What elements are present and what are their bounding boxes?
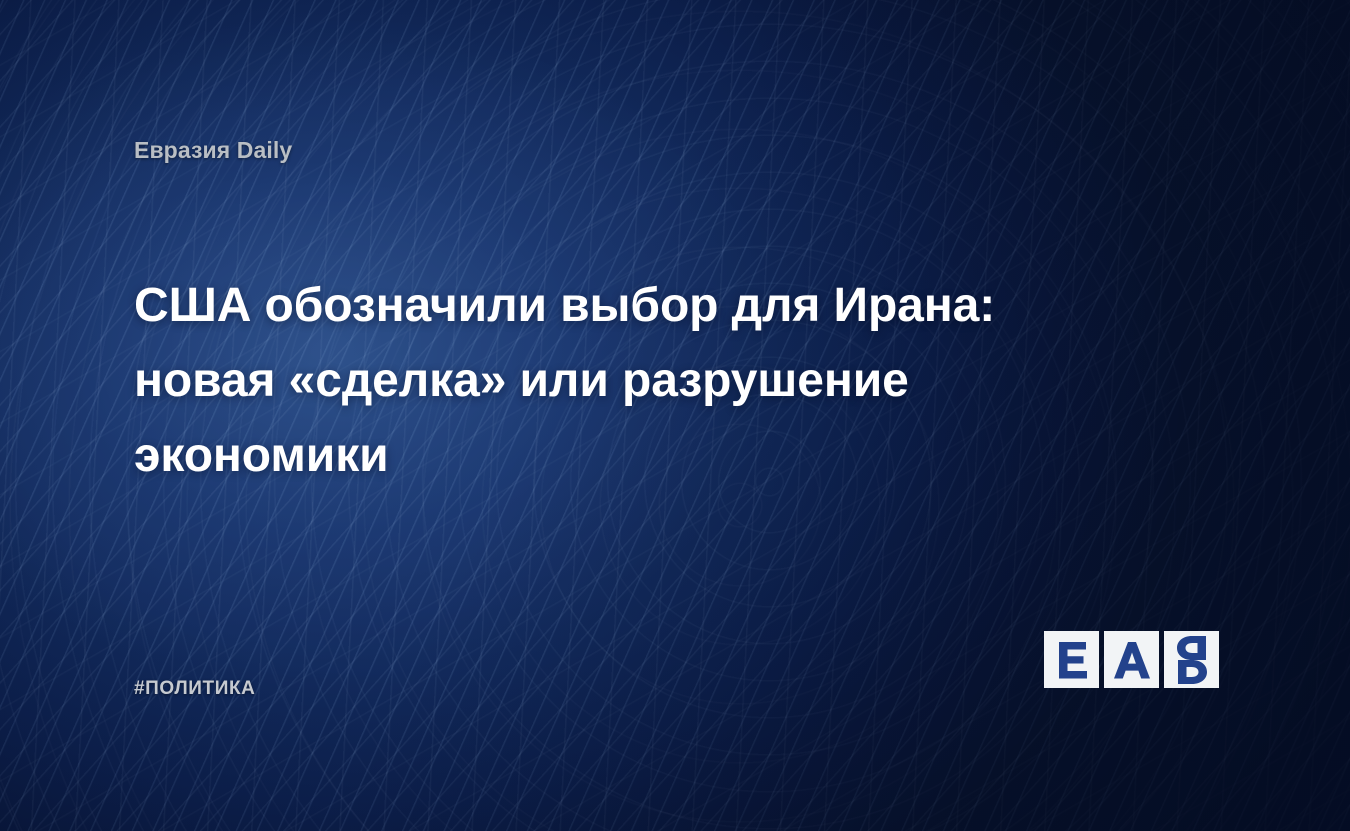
letter-d-lower-half-icon [1164, 660, 1219, 689]
article-cover-card: Евразия Daily США обозначили выбор для И… [0, 0, 1350, 831]
letter-a-icon [1114, 641, 1150, 679]
brand-wordmark: Евразия Daily [134, 137, 292, 164]
cover-content: Евразия Daily США обозначили выбор для И… [0, 0, 1350, 831]
logo-tile-d [1164, 631, 1219, 688]
logo-tile-a [1104, 631, 1159, 688]
category-hashtag: #ПОЛИТИКА [134, 678, 256, 700]
letter-d-upper-half-icon [1164, 631, 1219, 660]
eadaily-logo [1044, 631, 1219, 688]
page-title: США обозначили выбор для Ирана: новая «с… [134, 268, 1064, 493]
letter-e-icon [1056, 641, 1088, 679]
logo-tile-e [1044, 631, 1099, 688]
